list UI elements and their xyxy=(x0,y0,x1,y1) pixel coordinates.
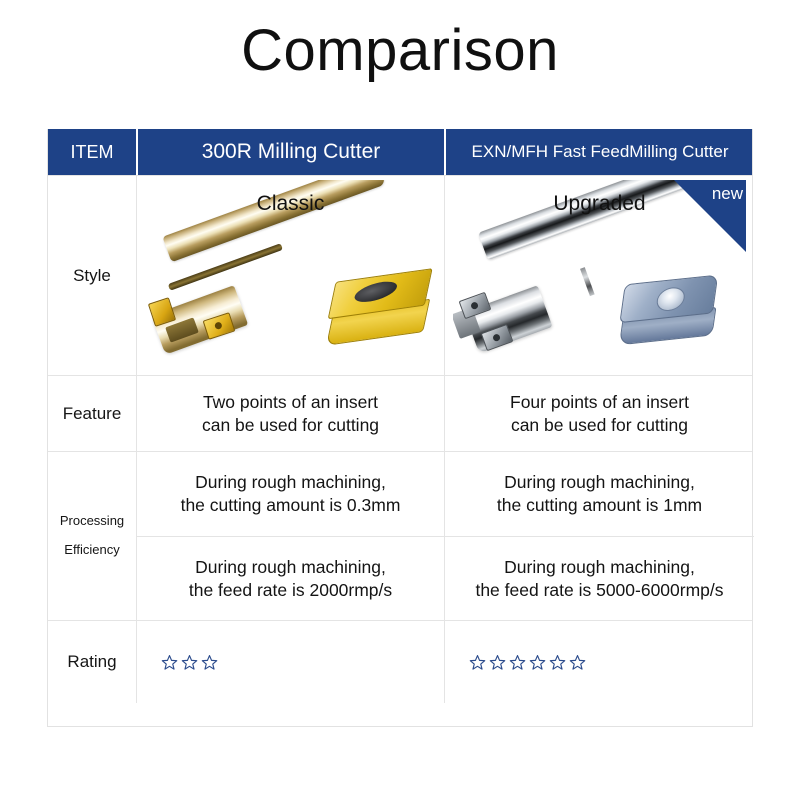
table-row-feature: Feature Two points of an insert can be u… xyxy=(48,375,752,451)
style-cell-300r: Classic xyxy=(136,176,444,375)
feature-exn-line2: can be used for cutting xyxy=(511,415,688,435)
header-cell-exn-mfh: EXN/MFH Fast Feed Milling Cutter xyxy=(444,129,754,175)
cutting-amount-exn-line1: During rough machining, xyxy=(504,472,695,492)
subrow-cutting-amount: During rough machining, the cutting amou… xyxy=(136,452,754,536)
rating-cell-300r xyxy=(136,621,444,702)
style-caption-classic: Classic xyxy=(145,192,436,216)
feed-rate-300r-line1: During rough machining, xyxy=(195,557,386,577)
star-icon xyxy=(201,654,218,671)
star-icon xyxy=(569,654,586,671)
silver-cutter-ring-icon xyxy=(580,267,595,296)
table-header-row: ITEM 300R Milling Cutter EXN/MFH Fast Fe… xyxy=(48,129,752,175)
feed-rate-text-exn-mfh: During rough machining, the feed rate is… xyxy=(475,556,723,602)
header-exn-mfh-label: EXN/MFH Fast Feed Milling Cutter xyxy=(446,129,754,175)
blue-insert-icon xyxy=(616,275,720,345)
star-icon xyxy=(549,654,566,671)
star-icon xyxy=(181,654,198,671)
style-cell-exn-mfh: Upgraded xyxy=(444,176,754,375)
row-label-cell-rating: Rating xyxy=(48,621,136,702)
style-caption-upgraded: Upgraded xyxy=(453,192,746,216)
rating-stars-300r xyxy=(145,654,436,671)
header-item-label: ITEM xyxy=(48,129,136,175)
yellow-insert-icon xyxy=(323,269,435,345)
feed-rate-cell-exn-mfh: During rough machining, the feed rate is… xyxy=(444,537,754,620)
header-cell-item: ITEM xyxy=(48,129,136,175)
processing-efficiency-subrows: During rough machining, the cutting amou… xyxy=(136,452,754,620)
table-row-processing-efficiency: Processing Efficiency During rough machi… xyxy=(48,451,752,620)
table-row-rating: Rating xyxy=(48,620,752,702)
rating-cell-exn-mfh xyxy=(444,621,754,702)
new-badge-triangle-icon xyxy=(674,180,746,252)
feed-rate-exn-line2: the feed rate is 5000-6000rmp/s xyxy=(475,580,723,600)
row-label-cell-feature: Feature xyxy=(48,376,136,451)
header-cell-300r: 300R Milling Cutter xyxy=(136,129,444,175)
row-label-processing-efficiency: Processing Efficiency xyxy=(60,514,124,559)
row-label-style: Style xyxy=(73,266,111,286)
cutting-amount-exn-line2: the cutting amount is 1mm xyxy=(497,495,702,515)
feed-rate-300r-line2: the feed rate is 2000rmp/s xyxy=(189,580,392,600)
feature-300r-line2: can be used for cutting xyxy=(202,415,379,435)
subrow-feed-rate: During rough machining, the feed rate is… xyxy=(136,536,754,620)
cutting-amount-cell-300r: During rough machining, the cutting amou… xyxy=(136,452,444,536)
cutting-amount-text-300r: During rough machining, the cutting amou… xyxy=(181,471,401,517)
feature-cell-exn-mfh: Four points of an insert can be used for… xyxy=(444,376,754,451)
page-title: Comparison xyxy=(0,22,800,80)
feature-300r-line1: Two points of an insert xyxy=(203,392,378,412)
feed-rate-exn-line1: During rough machining, xyxy=(504,557,695,577)
cutting-amount-300r-line1: During rough machining, xyxy=(195,472,386,492)
rating-stars-exn-mfh xyxy=(453,654,746,671)
cutting-amount-cell-exn-mfh: During rough machining, the cutting amou… xyxy=(444,452,754,536)
processing-efficiency-line1: Processing xyxy=(60,513,124,528)
row-label-rating: Rating xyxy=(67,652,116,672)
header-exn-mfh-line2: Milling Cutter xyxy=(629,142,728,161)
star-icon xyxy=(509,654,526,671)
header-exn-mfh-line1: EXN/MFH Fast Feed xyxy=(472,142,630,161)
feed-rate-cell-300r: During rough machining, the feed rate is… xyxy=(136,537,444,620)
style-illustration-exn-mfh: Upgraded xyxy=(453,180,746,372)
yellow-insert-recess-icon xyxy=(354,278,398,306)
table-row-style: Style Classic xyxy=(48,175,752,375)
comparison-table: ITEM 300R Milling Cutter EXN/MFH Fast Fe… xyxy=(47,129,753,727)
star-icon xyxy=(529,654,546,671)
insert-hole-icon xyxy=(470,301,479,310)
feature-cell-300r: Two points of an insert can be used for … xyxy=(136,376,444,451)
header-300r-label: 300R Milling Cutter xyxy=(138,129,444,175)
star-icon xyxy=(469,654,486,671)
feed-rate-text-300r: During rough machining, the feed rate is… xyxy=(189,556,392,602)
feature-exn-line1: Four points of an insert xyxy=(510,392,689,412)
cutting-amount-text-exn-mfh: During rough machining, the cutting amou… xyxy=(497,471,702,517)
feature-text-300r: Two points of an insert can be used for … xyxy=(202,391,379,437)
blue-insert-hole-icon xyxy=(655,286,686,312)
style-illustration-300r: Classic xyxy=(145,180,436,372)
new-badge: new xyxy=(674,180,746,252)
insert-hole-icon xyxy=(214,321,223,330)
star-icon xyxy=(489,654,506,671)
star-icon xyxy=(161,654,178,671)
feature-text-exn-mfh: Four points of an insert can be used for… xyxy=(510,391,689,437)
row-label-cell-processing-efficiency: Processing Efficiency xyxy=(48,452,136,620)
cutting-amount-300r-line2: the cutting amount is 0.3mm xyxy=(181,495,401,515)
processing-efficiency-line2: Efficiency xyxy=(64,542,119,557)
insert-hole-icon xyxy=(492,333,501,342)
row-label-feature: Feature xyxy=(63,404,122,424)
row-label-cell-style: Style xyxy=(48,176,136,375)
